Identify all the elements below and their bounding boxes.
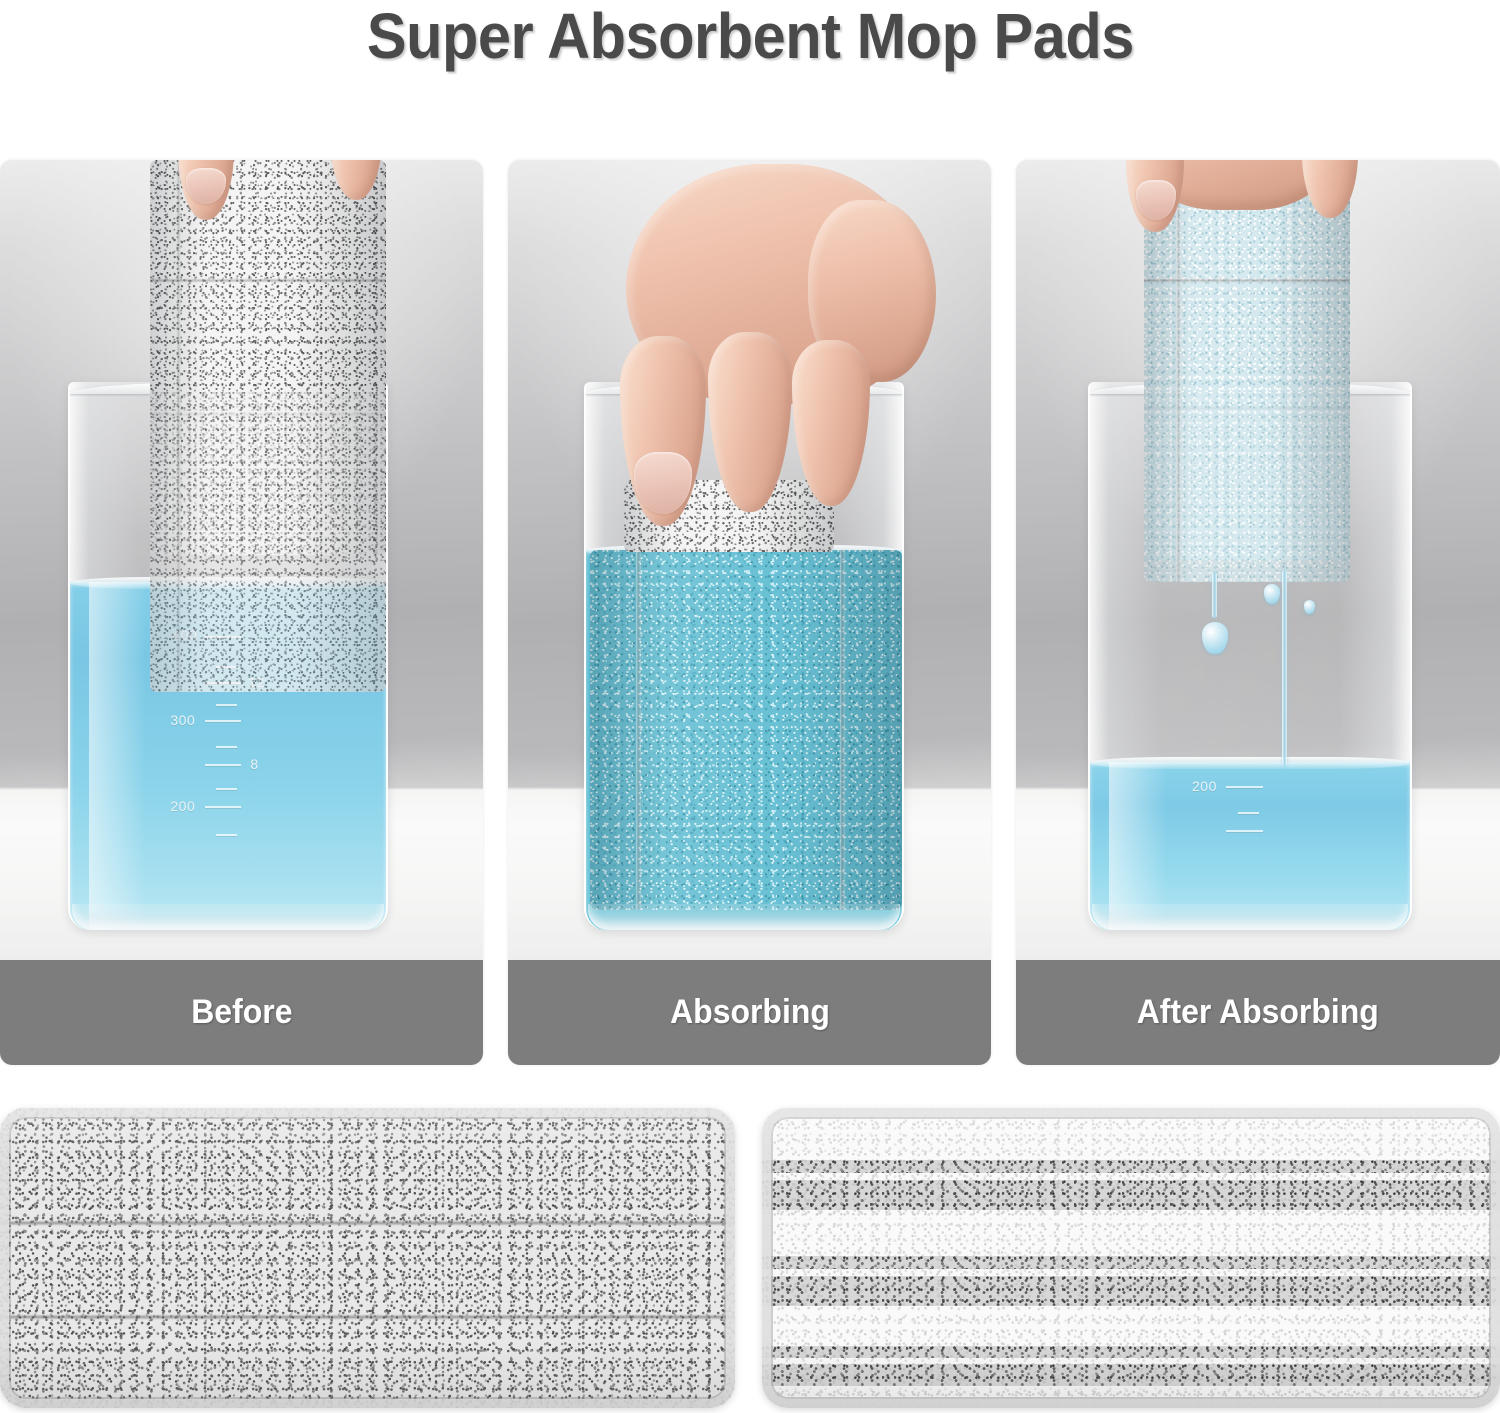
caption-label: Absorbing <box>670 993 830 1032</box>
product-pad-row <box>0 1108 1500 1413</box>
mop-pad-wet-in-beaker <box>1144 392 1350 582</box>
graduation-label: 300 <box>170 712 195 728</box>
microfiber-surface <box>0 1108 735 1408</box>
graduation-mark <box>1238 812 1259 814</box>
photo-after: 200 <box>1016 160 1500 960</box>
mop-pad-dry-submerged <box>150 392 386 692</box>
water-droplet <box>1264 584 1280 604</box>
graduation-label: 8 <box>250 756 258 772</box>
pad-stripe <box>762 1364 1500 1386</box>
caption-absorbing: Absorbing <box>508 960 991 1065</box>
pad-shading <box>150 392 386 692</box>
caption-before: Before <box>0 960 483 1065</box>
beaker-base <box>588 904 900 930</box>
graduation-mark <box>205 720 241 722</box>
graduation-mark <box>216 746 237 748</box>
pad-stripe <box>762 1256 1500 1269</box>
drip-stream-long <box>1282 570 1287 766</box>
pad-stripe <box>762 1160 1500 1173</box>
product-pad-gray <box>0 1108 735 1408</box>
panel-after: 200 <box>1016 160 1500 1065</box>
graduation-mark <box>1226 786 1263 788</box>
pad-stitch-line <box>0 1314 735 1320</box>
page-title: Super Absorbent Mop Pads <box>366 4 1133 68</box>
photo-before: 400 12 300 8 200 <box>0 160 483 960</box>
graduation-mark <box>205 764 241 766</box>
mop-pad-saturated <box>590 550 902 910</box>
graduation-mark <box>1226 830 1263 832</box>
graduation-mark <box>216 834 237 836</box>
product-pad-striped <box>762 1108 1500 1408</box>
caption-after: After Absorbing <box>1016 960 1500 1065</box>
beaker-base <box>72 904 384 930</box>
caption-label: After Absorbing <box>1137 993 1379 1032</box>
panel-before: 400 12 300 8 200 <box>0 160 483 1065</box>
water-droplet <box>1304 600 1315 614</box>
pad-stitch-line <box>0 1220 735 1226</box>
photo-absorbing <box>508 160 991 960</box>
graduation-label: 200 <box>1192 778 1217 794</box>
caption-label: Before <box>191 993 292 1032</box>
pad-shading <box>1144 392 1350 582</box>
graduation-label: 200 <box>170 798 195 814</box>
graduation-mark <box>216 704 237 706</box>
graduation-mark <box>205 806 241 808</box>
graduation-mark <box>216 788 237 790</box>
drip-stream <box>1212 572 1217 618</box>
title-bar: Super Absorbent Mop Pads <box>0 0 1500 150</box>
comparison-panel-row: 400 12 300 8 200 <box>0 160 1500 1065</box>
pad-shading <box>590 550 902 910</box>
pad-stripe <box>762 1180 1500 1210</box>
panel-absorbing: Absorbing <box>508 160 991 1065</box>
pad-stripe <box>762 1276 1500 1306</box>
liquid-sheen <box>89 582 146 930</box>
pad-stripe <box>762 1346 1500 1358</box>
beaker-base <box>1092 904 1408 930</box>
water-droplet <box>1202 622 1228 654</box>
